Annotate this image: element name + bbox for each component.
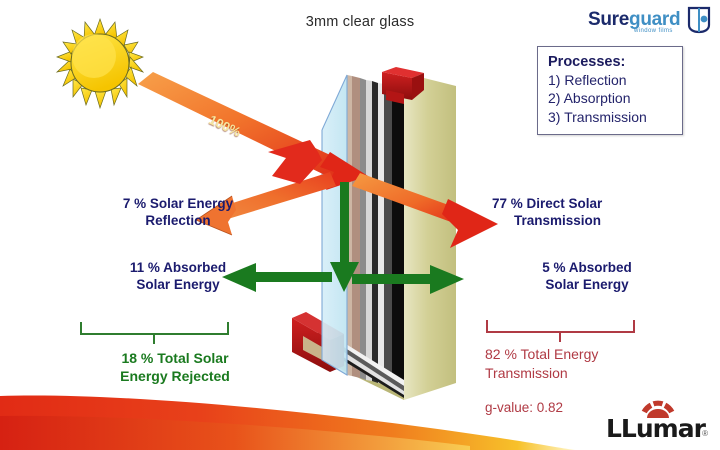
label-solar-reflection-line1: 7 % Solar Energy [78, 196, 278, 213]
window-frame [347, 75, 404, 390]
label-direct-transmission: 77 % Direct Solar Transmission [492, 196, 702, 230]
sun-icon [57, 19, 143, 108]
label-solar-reflection-line2: Reflection [78, 213, 278, 230]
total-rejected-bracket [81, 322, 228, 344]
llumar-trademark: ® [702, 429, 708, 438]
label-solar-reflection: 7 % Solar Energy Reflection [78, 196, 278, 230]
summary-total-rejected-line1: 18 % Total Solar [60, 350, 290, 368]
diagram-canvas: 3mm clear glass Sureguard window films P… [0, 0, 720, 450]
label-absorbed-right-line1: 5 % Absorbed [492, 260, 682, 277]
summary-total-transmission-line2: Transmission [485, 364, 685, 383]
summary-total-transmission-line1: 82 % Total Energy [485, 345, 685, 364]
summary-total-rejected: 18 % Total Solar Energy Rejected [60, 350, 290, 385]
llumar-wordmark: LLumar [606, 414, 705, 443]
label-direct-transmission-line2: Transmission [492, 213, 702, 230]
label-absorbed-left-line2: Solar Energy [78, 277, 278, 294]
label-absorbed-left-line1: 11 % Absorbed [78, 260, 278, 277]
label-direct-transmission-line1: 77 % Direct Solar [492, 196, 702, 213]
total-transmission-bracket [487, 320, 634, 342]
label-absorbed-right: 5 % Absorbed Solar Energy [492, 260, 682, 294]
summary-total-rejected-line2: Energy Rejected [60, 368, 290, 386]
summary-total-transmission: 82 % Total Energy Transmission [485, 345, 685, 383]
label-absorbed-right-line2: Solar Energy [492, 277, 682, 294]
llumar-logo: LLumar ® [606, 398, 706, 444]
label-absorbed-left: 11 % Absorbed Solar Energy [78, 260, 278, 294]
